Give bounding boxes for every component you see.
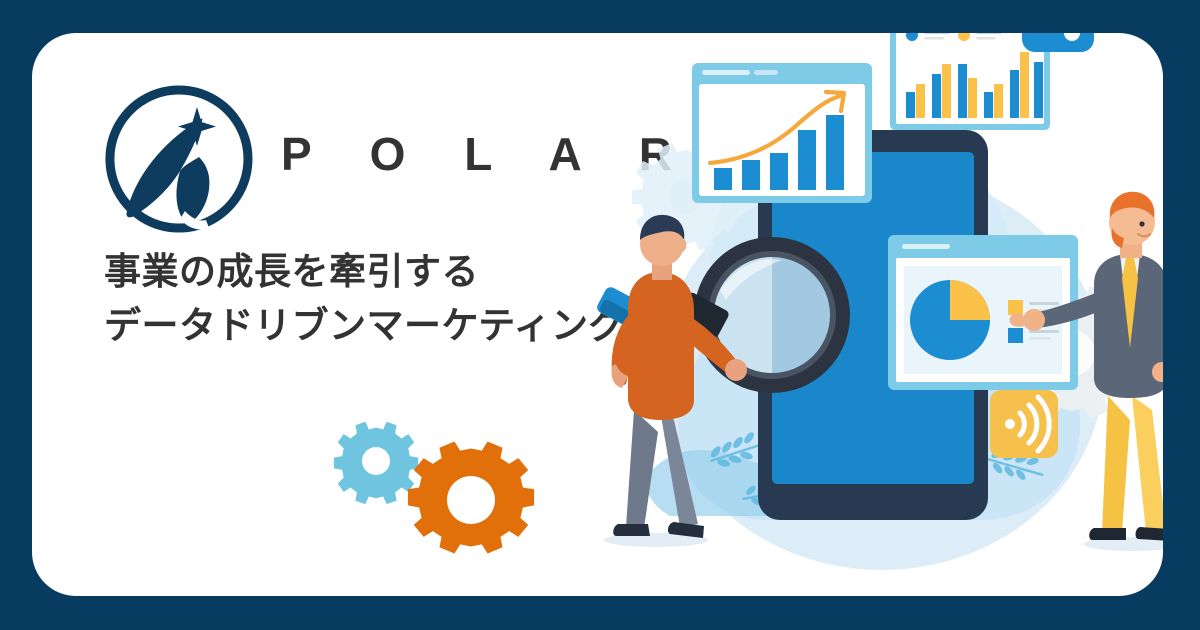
gear-icon	[408, 441, 534, 553]
legend-swatch	[1008, 300, 1023, 315]
share-icon-badge[interactable]	[1022, 33, 1094, 52]
polaris-logo-icon	[105, 85, 253, 233]
content-card: P O L A R I S 事業の成長を牽引する データドリブンマーケティング	[32, 33, 1163, 596]
gear-decoration-group	[324, 415, 554, 565]
tagline: 事業の成長を牽引する データドリブンマーケティング	[104, 245, 626, 352]
pie-chart	[910, 280, 990, 360]
gear-icon	[334, 422, 418, 504]
tagline-line-2: データドリブンマーケティング	[104, 299, 626, 353]
banner-root: P O L A R I S 事業の成長を牽引する データドリブンマーケティング	[0, 0, 1200, 630]
data-driven-marketing-illustration	[560, 33, 1163, 596]
legend-swatch	[1008, 328, 1023, 343]
wifi-signal-badge[interactable]	[990, 390, 1058, 458]
tagline-line-1: 事業の成長を牽引する	[104, 245, 626, 299]
growth-bar-card	[692, 63, 872, 203]
